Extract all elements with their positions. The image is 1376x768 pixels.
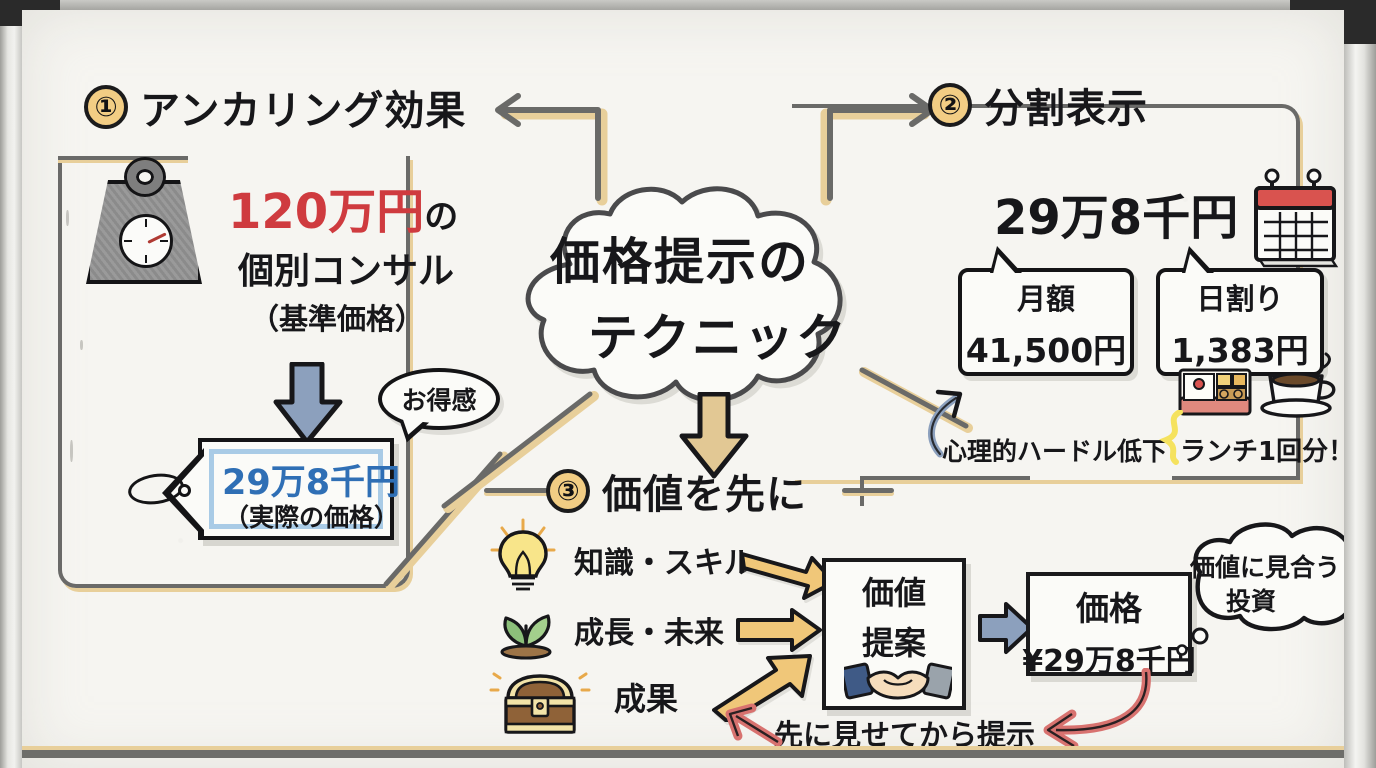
thought-bubble-line1: 価値に見合う xyxy=(1190,548,1340,584)
callout-monthly-tail-fill xyxy=(993,254,1016,274)
section-3-heading: ③ 価値を先に xyxy=(546,462,807,520)
section-1-anchor-price-row: 120万円の xyxy=(228,172,458,242)
value-proposal-line1: 価値 xyxy=(862,568,926,614)
thought-bubble-dots xyxy=(1168,626,1218,664)
section-3-title: 価値を先に xyxy=(602,462,807,520)
section-2-frame-bottom-left-stub xyxy=(860,476,1030,480)
section-2-note-right: ランチ1回分！ xyxy=(1170,430,1344,469)
callout-daily-label: 日割り xyxy=(1196,276,1283,318)
calendar-icon xyxy=(1244,168,1344,274)
callout-monthly-value: 41,500円 xyxy=(966,324,1126,372)
lightbulb-icon xyxy=(488,518,558,592)
callout-daily-tail-fill xyxy=(1185,254,1208,274)
section-1-anchor-price: 120万円 xyxy=(228,172,424,242)
section-3-frame-dash-right xyxy=(842,488,894,493)
section-2-number: ② xyxy=(928,83,972,127)
price-tag: 29万8千円 （実際の価格） xyxy=(198,438,394,540)
section-1-number: ① xyxy=(84,85,128,129)
whiteboard-photo: 価格提示の テクニック xyxy=(0,0,1376,768)
section-1-anchor-note: （基準価格） xyxy=(250,296,424,338)
arrow-anchor-to-tag xyxy=(266,362,352,446)
price-tag-hole xyxy=(178,484,191,497)
center-cloud-line1: 価格提示の xyxy=(550,222,810,294)
weight-scale-icon xyxy=(86,158,210,290)
whiteboard-surface: 価格提示の テクニック xyxy=(22,10,1344,768)
section-3-number: ③ xyxy=(546,469,590,513)
section-3-item-3-label: 成果 xyxy=(614,674,678,720)
arrow-show-value-first-right xyxy=(1018,668,1154,754)
arrow-cloud-to-section-2 xyxy=(814,88,944,218)
section-3-item-1-label: 知識・スキル xyxy=(574,538,754,582)
center-cloud-line2: テクニック xyxy=(588,298,848,370)
section-1-heading: ① アンカリング効果 xyxy=(84,78,466,136)
section-3-item-2-label: 成長・未来 xyxy=(574,608,724,652)
handshake-icon xyxy=(844,656,952,704)
callout-monthly-label: 月額 xyxy=(1017,276,1075,318)
weight-gauge xyxy=(119,214,173,268)
whiteboard-frame-right xyxy=(1342,0,1376,768)
final-price-line1: 価格 xyxy=(1076,582,1142,630)
coffee-cup-icon xyxy=(1260,350,1344,422)
section-2-frame-bottom-stub xyxy=(1172,476,1300,480)
section-1-title: アンカリング効果 xyxy=(140,78,466,136)
center-cloud-line1-text: 価格提示の xyxy=(550,222,810,294)
callout-monthly: 月額 41,500円 xyxy=(958,268,1134,376)
section-2-title: 分割表示 xyxy=(984,76,1148,134)
price-tag-note: （実際の価格） xyxy=(224,498,399,534)
section-2-note-left: 心理的ハードル低下 xyxy=(942,432,1167,468)
section-1-anchor-product: 個別コンサル xyxy=(238,242,454,294)
section-2-total-price: 29万8千円 xyxy=(994,178,1238,248)
arrow-show-value-first-left xyxy=(722,702,784,752)
bubble-tail-fill xyxy=(401,419,423,436)
thought-bubble-line2: 投資 xyxy=(1226,582,1276,618)
value-proposal-box: 価値 提案 xyxy=(822,558,966,710)
sprout-icon xyxy=(490,592,562,660)
weight-ring xyxy=(127,160,163,194)
section-2-heading: ② 分割表示 xyxy=(928,76,1148,134)
bargain-feeling-text: お得感 xyxy=(401,381,476,417)
treasure-chest-icon xyxy=(488,664,592,742)
section-1-anchor-price-suffix: の xyxy=(424,197,458,237)
whiteboard-tray-line xyxy=(22,746,1344,758)
arrow-cloud-to-section-1 xyxy=(484,88,614,218)
bargain-feeling-bubble: お得感 xyxy=(378,368,500,430)
